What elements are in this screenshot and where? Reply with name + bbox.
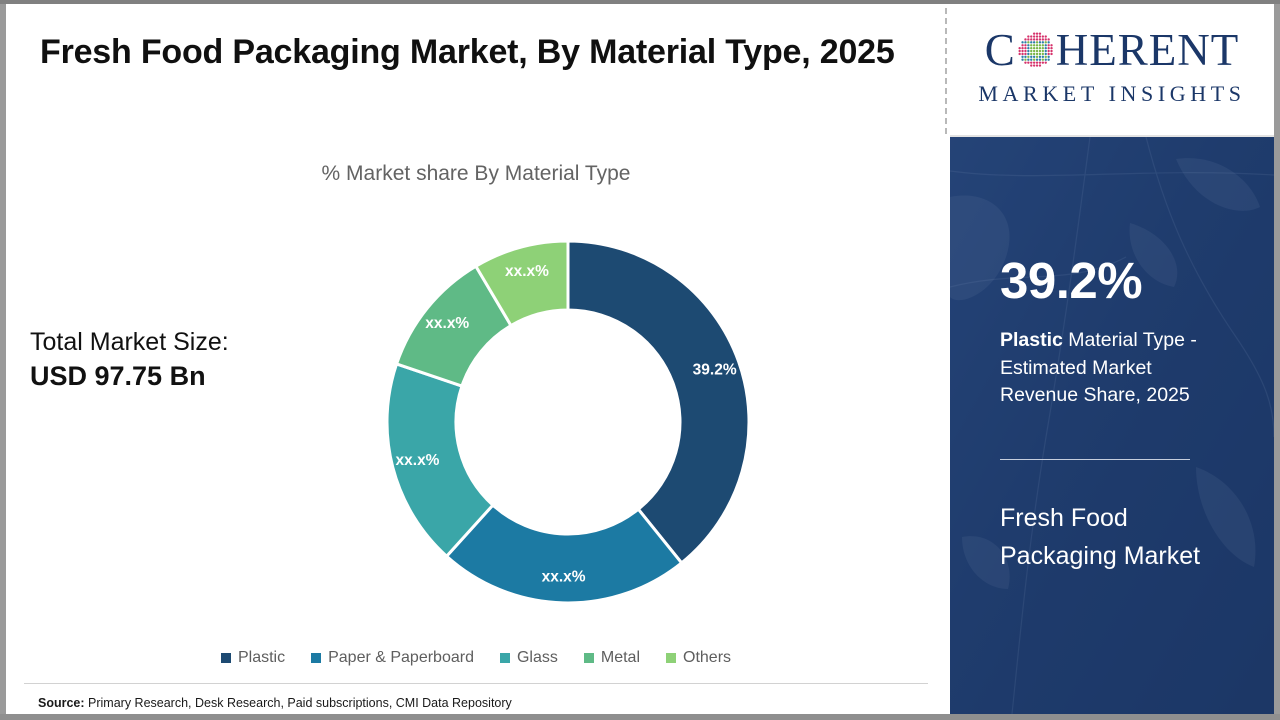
legend-label: Others xyxy=(683,649,731,667)
legend-item[interactable]: Metal xyxy=(584,649,640,667)
logo-letters-herent: HERENT xyxy=(1056,28,1239,73)
legend-item[interactable]: Others xyxy=(666,649,731,667)
chart-legend: PlasticPaper & PaperboardGlassMetalOther… xyxy=(6,649,946,667)
source-text: Primary Research, Desk Research, Paid su… xyxy=(85,696,512,710)
sidebar-divider xyxy=(1000,459,1190,460)
legend-label: Plastic xyxy=(238,649,285,667)
legend-item[interactable]: Paper & Paperboard xyxy=(311,649,474,667)
content-pane: Fresh Food Packaging Market, By Material… xyxy=(6,4,946,714)
donut-slice[interactable] xyxy=(447,505,682,603)
legend-swatch-icon xyxy=(311,653,321,663)
stat-sidebar: 39.2% Plastic Material Type - Estimated … xyxy=(950,137,1274,714)
total-market-size-value: USD 97.75 Bn xyxy=(30,359,229,395)
legend-label: Paper & Paperboard xyxy=(328,649,474,667)
slide-canvas: Fresh Food Packaging Market, By Material… xyxy=(0,0,1280,720)
donut-chart: 39.2%xx.x%xx.x%xx.x%xx.x% xyxy=(384,238,752,606)
donut-slice-label: xx.x% xyxy=(396,452,440,469)
canvas-bottom-edge xyxy=(0,714,1280,720)
brand-logo: C HERENT MARKET INSIGHTS xyxy=(950,4,1274,137)
stat-percentage: 39.2% xyxy=(1000,255,1142,306)
chart-subtitle: % Market share By Material Type xyxy=(6,162,946,186)
sidebar-content: 39.2% Plastic Material Type - Estimated … xyxy=(1000,137,1250,714)
source-label: Source: xyxy=(38,696,85,710)
slide-card: Fresh Food Packaging Market, By Material… xyxy=(6,4,1274,714)
legend-label: Glass xyxy=(517,649,558,667)
sidebar-market-name: Fresh Food Packaging Market xyxy=(1000,500,1215,575)
stat-description: Plastic Material Type - Estimated Market… xyxy=(1000,327,1232,410)
donut-slice-label: xx.x% xyxy=(542,569,586,586)
legend-swatch-icon xyxy=(584,653,594,663)
source-line: Source: Primary Research, Desk Research,… xyxy=(38,696,512,710)
logo-subtitle: MARKET INSIGHTS xyxy=(966,81,1258,107)
legend-item[interactable]: Plastic xyxy=(221,649,285,667)
legend-swatch-icon xyxy=(666,653,676,663)
donut-slice-label: 39.2% xyxy=(693,361,737,378)
logo-letter-c: C xyxy=(985,28,1016,73)
total-market-size-block: Total Market Size: USD 97.75 Bn xyxy=(30,326,229,395)
page-title: Fresh Food Packaging Market, By Material… xyxy=(40,28,910,77)
legend-swatch-icon xyxy=(500,653,510,663)
donut-slice[interactable] xyxy=(568,241,749,563)
stat-description-highlight: Plastic xyxy=(1000,329,1063,351)
dotted-globe-icon xyxy=(1017,31,1055,69)
legend-label: Metal xyxy=(601,649,640,667)
total-market-size-label: Total Market Size: xyxy=(30,326,229,359)
brand-logo-wordmark: C HERENT xyxy=(966,24,1258,76)
footer-divider xyxy=(24,683,928,684)
donut-chart-svg: 39.2%xx.x%xx.x%xx.x%xx.x% xyxy=(384,238,752,606)
brand-logo-inner: C HERENT MARKET INSIGHTS xyxy=(966,24,1258,107)
legend-swatch-icon xyxy=(221,653,231,663)
donut-slice-label: xx.x% xyxy=(505,263,549,280)
legend-item[interactable]: Glass xyxy=(500,649,558,667)
vertical-dashed-separator xyxy=(945,8,947,134)
donut-slice-label: xx.x% xyxy=(425,315,469,332)
